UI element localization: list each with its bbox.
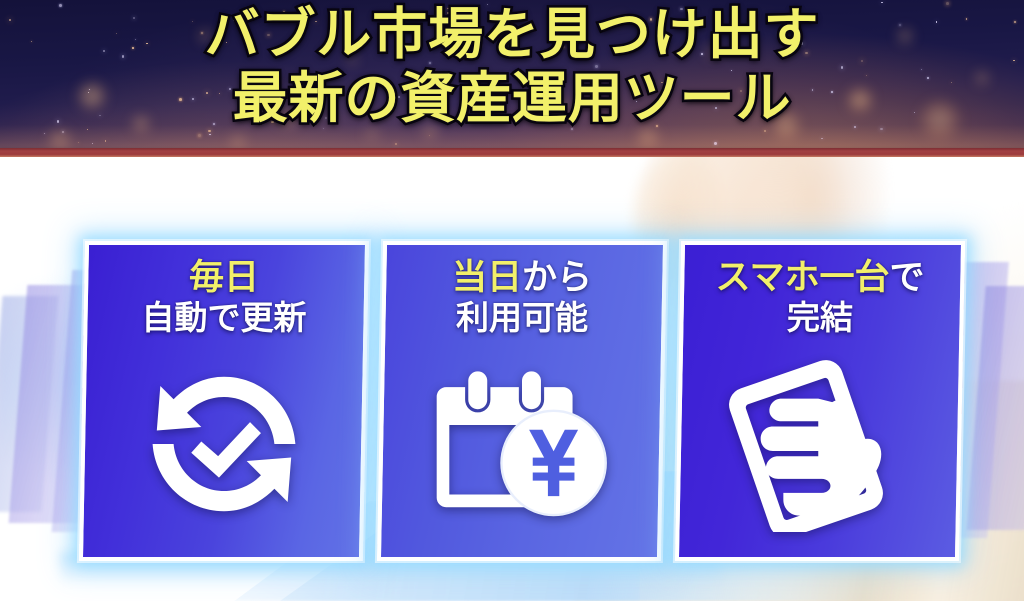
headline-line-1: バブル市場を見つけ出す	[0, 2, 1024, 62]
card-subtitle: 自動で更新	[86, 300, 362, 337]
card-title: 毎日 自動で更新	[86, 259, 362, 337]
calendar-yen-coin-icon	[384, 337, 660, 557]
card-title-rest: から	[522, 258, 592, 298]
feature-card-daily-update[interactable]: 毎日 自動で更新	[79, 241, 369, 561]
card-subtitle: 利用可能	[384, 300, 660, 337]
card-subtitle: 完結	[682, 300, 958, 337]
card-title-rest: で	[889, 258, 924, 298]
card-title-highlight: 当日	[452, 258, 522, 298]
feature-card-same-day[interactable]: 当日から 利用可能	[377, 241, 667, 561]
card-title-highlight: スマホ一台	[716, 258, 890, 298]
headline-line-2: 最新の資産運用ツール	[0, 62, 1024, 126]
card-title: スマホ一台で 完結	[682, 259, 958, 337]
feature-card-smartphone-only[interactable]: スマホ一台で 完結	[675, 241, 965, 561]
card-title: 当日から 利用可能	[384, 259, 660, 337]
promo-banner: バブル市場を見つけ出す 最新の資産運用ツール 毎日 自動で更新	[0, 0, 1024, 601]
page-title: バブル市場を見つけ出す 最新の資産運用ツール	[0, 2, 1024, 126]
sync-refresh-check-icon	[86, 337, 362, 557]
card-title-highlight: 毎日	[189, 258, 259, 298]
hand-holding-smartphone-icon	[682, 337, 958, 557]
